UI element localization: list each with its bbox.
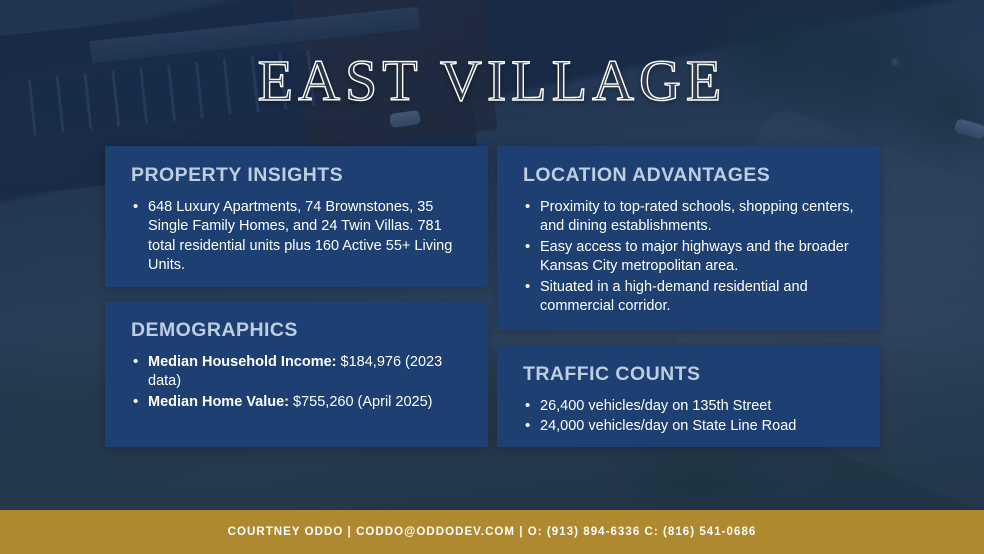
footer-bar: COURTNEY ODDO | CODDO@ODDODEV.COM | O: (… <box>0 510 984 554</box>
list-item: Situated in a high-demand residential an… <box>523 278 858 317</box>
list-item: 24,000 vehicles/day on State Line Road <box>523 417 858 436</box>
slide-canvas: EAST VILLAGE PROPERTY INSIGHTS 648 Luxur… <box>0 0 984 554</box>
bullet-text: 24,000 vehicles/day on State Line Road <box>540 418 796 434</box>
bullet-text: 648 Luxury Apartments, 74 Brownstones, 3… <box>148 199 452 273</box>
list-item: Easy access to major highways and the br… <box>523 238 858 277</box>
panel-heading-traffic-counts: TRAFFIC COUNTS <box>523 363 858 386</box>
bullet-list-location-advantages: Proximity to top-rated schools, shopping… <box>523 198 858 317</box>
page-title: EAST VILLAGE <box>0 52 984 110</box>
panel-demographics: DEMOGRAPHICS Median Household Income: $1… <box>105 301 488 447</box>
list-item: Median Home Value: $755,260 (April 2025) <box>131 393 466 412</box>
bullet-text: Situated in a high-demand residential an… <box>540 279 808 314</box>
panel-heading-property-insights: PROPERTY INSIGHTS <box>131 164 466 187</box>
footer-contact-text: COURTNEY ODDO | CODDO@ODDODEV.COM | O: (… <box>228 526 757 538</box>
panel-property-insights: PROPERTY INSIGHTS 648 Luxury Apartments,… <box>105 146 488 287</box>
list-item: 648 Luxury Apartments, 74 Brownstones, 3… <box>131 198 466 276</box>
bullet-text: $755,260 (April 2025) <box>289 394 433 410</box>
list-item: Proximity to top-rated schools, shopping… <box>523 198 858 237</box>
bullet-label: Median Household Income: <box>148 354 337 370</box>
bullet-list-property-insights: 648 Luxury Apartments, 74 Brownstones, 3… <box>131 198 466 276</box>
bullet-list-demographics: Median Household Income: $184,976 (2023 … <box>131 353 466 412</box>
panel-heading-demographics: DEMOGRAPHICS <box>131 319 466 342</box>
panel-traffic-counts: TRAFFIC COUNTS 26,400 vehicles/day on 13… <box>497 345 880 447</box>
panel-location-advantages: LOCATION ADVANTAGES Proximity to top-rat… <box>497 146 880 330</box>
bullet-text: Proximity to top-rated schools, shopping… <box>540 199 854 234</box>
bullet-label: Median Home Value: <box>148 394 289 410</box>
panel-heading-location-advantages: LOCATION ADVANTAGES <box>523 164 858 187</box>
bullet-text: 26,400 vehicles/day on 135th Street <box>540 398 771 414</box>
bullet-list-traffic-counts: 26,400 vehicles/day on 135th Street 24,0… <box>523 397 858 437</box>
list-item: 26,400 vehicles/day on 135th Street <box>523 397 858 416</box>
bullet-text: Easy access to major highways and the br… <box>540 239 849 274</box>
list-item: Median Household Income: $184,976 (2023 … <box>131 353 466 392</box>
